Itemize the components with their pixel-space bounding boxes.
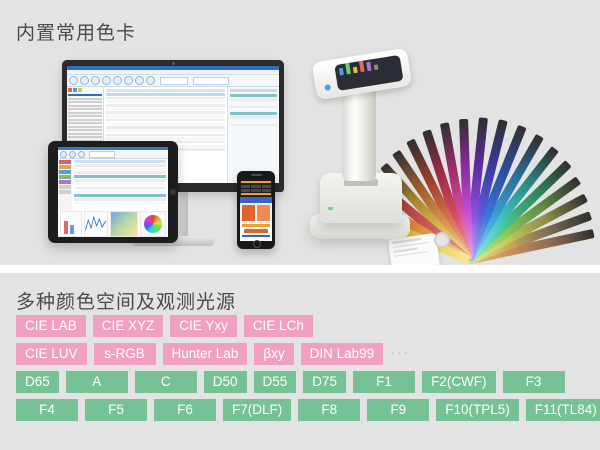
mini-3d-plot xyxy=(110,211,138,237)
tablet-home-button[interactable] xyxy=(170,189,176,195)
tag-row-color-spaces-2: CIE LUV s-RGB Hunter Lab βxy DIN Lab99 ·… xyxy=(16,343,600,365)
tag-din-lab99[interactable]: DIN Lab99 xyxy=(301,343,384,365)
tablet-screen xyxy=(58,147,168,237)
toolbar-icon xyxy=(146,76,155,85)
fan-deck-pivot-pin xyxy=(434,232,450,248)
section-color-spaces: 多种颜色空间及观测光源 CIE LAB CIE XYZ CIE Yxy CIE … xyxy=(0,273,600,450)
tag-cie-yxy[interactable]: CIE Yxy xyxy=(170,315,237,337)
tag-hunter-lab[interactable]: Hunter Lab xyxy=(163,343,248,365)
power-button-icon[interactable] xyxy=(324,84,331,91)
tag-row-color-spaces-1: CIE LAB CIE XYZ CIE Yxy CIE LCh xyxy=(16,315,600,337)
tag-row-ellipsis: ··· xyxy=(390,341,410,367)
tablet-device xyxy=(48,141,178,243)
toolbar-icon xyxy=(69,151,76,158)
tag-cie-lch[interactable]: CIE LCh xyxy=(244,315,313,337)
phone-screen xyxy=(240,179,272,241)
tag-f8[interactable]: F8 xyxy=(298,399,360,421)
tag-cie-luv[interactable]: CIE LUV xyxy=(16,343,87,365)
toolbar-icon xyxy=(113,76,122,85)
tag-f5[interactable]: F5 xyxy=(85,399,147,421)
tag-d50[interactable]: D50 xyxy=(204,371,247,393)
tag-cie-lab[interactable]: CIE LAB xyxy=(16,315,86,337)
toolbar-icon xyxy=(78,151,85,158)
toolbar-icon xyxy=(135,76,144,85)
tag-row-illuminants-2: F4 F5 F6 F7(DLF) F8 F9 F10(TPL5) F11(TL8… xyxy=(16,399,600,421)
mini-color-wheel xyxy=(140,211,166,237)
tag-f9[interactable]: F9 xyxy=(367,399,429,421)
tag-d75[interactable]: D75 xyxy=(303,371,346,393)
phone-home-button[interactable] xyxy=(253,240,261,248)
section-color-cards: 内置常用色卡 xyxy=(0,0,600,265)
tag-row-illuminants-1: D65 A C D50 D55 D75 F1 F2(CWF) F3 xyxy=(16,371,600,393)
tag-f10-tpl5[interactable]: F10(TPL5) xyxy=(436,399,519,421)
benchtop-spectrophotometer xyxy=(300,55,412,250)
tag-f2-cwf[interactable]: F2(CWF) xyxy=(422,371,495,393)
device-display[interactable] xyxy=(334,55,403,91)
page-root: 内置常用色卡 xyxy=(0,0,600,450)
toolbar-icon xyxy=(102,76,111,85)
toolbar-input xyxy=(160,77,188,85)
device-head xyxy=(312,48,413,101)
smartphone-device xyxy=(237,171,275,249)
tag-f7-dlf[interactable]: F7(DLF) xyxy=(223,399,291,421)
toolbar-input xyxy=(193,77,229,85)
earpiece-speaker xyxy=(251,174,262,176)
section-one-title: 内置常用色卡 xyxy=(16,18,136,45)
section-divider xyxy=(0,265,600,273)
toolbar-icon xyxy=(69,76,78,85)
tag-a[interactable]: A xyxy=(66,371,128,393)
tag-row-group: CIE LAB CIE XYZ CIE Yxy CIE LCh CIE LUV … xyxy=(0,315,600,427)
tag-f3[interactable]: F3 xyxy=(503,371,565,393)
spectral-curve-icon xyxy=(85,212,107,236)
webcam-icon xyxy=(172,62,175,65)
tag-d55[interactable]: D55 xyxy=(254,371,297,393)
mini-spectral-curve xyxy=(84,211,108,237)
status-led-icon xyxy=(328,207,333,210)
mini-color-patch-chart xyxy=(60,211,82,237)
tag-f11-tl84[interactable]: F11(TL84) xyxy=(526,399,600,421)
tag-f6[interactable]: F6 xyxy=(154,399,216,421)
tag-f1[interactable]: F1 xyxy=(353,371,415,393)
toolbar-icon xyxy=(60,151,67,158)
toolbar-icon xyxy=(91,76,100,85)
tag-cie-xyz[interactable]: CIE XYZ xyxy=(93,315,164,337)
device-photo-group xyxy=(0,45,600,260)
tag-f4[interactable]: F4 xyxy=(16,399,78,421)
section-two-title: 多种颜色空间及观测光源 xyxy=(16,287,236,314)
device-column xyxy=(342,85,376,181)
app-toolbar xyxy=(67,75,279,87)
app-results-panel xyxy=(227,87,279,183)
tag-s-rgb[interactable]: s-RGB xyxy=(94,343,156,365)
toolbar-icon xyxy=(124,76,133,85)
tag-bxy[interactable]: βxy xyxy=(254,343,293,365)
tag-d65[interactable]: D65 xyxy=(16,371,59,393)
tag-c[interactable]: C xyxy=(135,371,197,393)
toolbar-icon xyxy=(80,76,89,85)
